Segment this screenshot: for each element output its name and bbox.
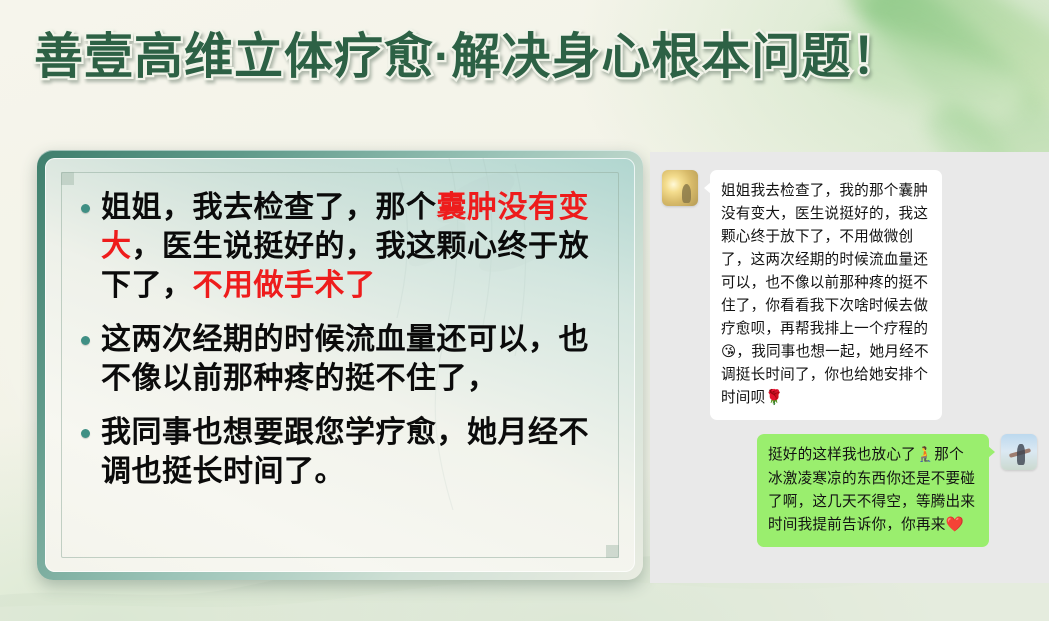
bullet-dot-icon xyxy=(81,204,90,213)
chat-message-outgoing: 挺好的这样我也放心了🧎那个冰激凌寒凉的东西你还是不要碰了啊，这几天不得空，等腾出… xyxy=(650,420,1049,546)
bullet-segment: 姐姐，我去检查了，那个 xyxy=(101,191,437,224)
avatar xyxy=(1001,434,1037,470)
content-card: 姐姐，我去检查了，那个囊肿没有变大，医生说挺好的，我这颗心终于放下了，不用做手术… xyxy=(37,150,643,580)
bullet-text: 我同事也想要跟您学疗愈，她月经不调也挺长时间了。 xyxy=(101,413,613,491)
chat-bubble-outgoing: 挺好的这样我也放心了🧎那个冰激凌寒凉的东西你还是不要碰了啊，这几天不得空，等腾出… xyxy=(757,434,989,546)
avatar xyxy=(662,170,698,206)
chat-screenshot-panel: 姐姐我去检查了，我的那个囊肿没有变大，医生说挺好的，我这颗心终于放下了，不用做微… xyxy=(650,152,1049,583)
bullet-text: 姐姐，我去检查了，那个囊肿没有变大，医生说挺好的，我这颗心终于放下了，不用做手术… xyxy=(101,188,613,305)
bullet-segment: 我同事也想要跟您学疗愈，她月经不调也挺长时间了。 xyxy=(101,416,589,488)
bullet-dot-icon xyxy=(81,429,90,438)
bullet-segment: 这两次经期的时候流血量还可以，也不像以前那种疼的挺不住了， xyxy=(101,323,589,395)
bullet-dot-icon xyxy=(81,336,90,345)
list-item: 姐姐，我去检查了，那个囊肿没有变大，医生说挺好的，我这颗心终于放下了，不用做手术… xyxy=(81,188,613,305)
list-item: 我同事也想要跟您学疗愈，她月经不调也挺长时间了。 xyxy=(81,413,613,491)
page-title: 善壹高维立体疗愈·解决身心根本问题！ xyxy=(34,30,901,85)
content-card-inner: 姐姐，我去检查了，那个囊肿没有变大，医生说挺好的，我这颗心终于放下了，不用做手术… xyxy=(45,158,635,572)
bullet-list: 姐姐，我去检查了，那个囊肿没有变大，医生说挺好的，我这颗心终于放下了，不用做手术… xyxy=(75,180,617,554)
bullet-text: 这两次经期的时候流血量还可以，也不像以前那种疼的挺不住了， xyxy=(101,320,613,398)
list-item: 这两次经期的时候流血量还可以，也不像以前那种疼的挺不住了， xyxy=(81,320,613,398)
chat-bubble-incoming: 姐姐我去检查了，我的那个囊肿没有变大，医生说挺好的，我这颗心终于放下了，不用做微… xyxy=(710,170,942,420)
frame-corner-notch xyxy=(61,172,74,185)
bullet-segment-highlight: 不用做手术了 xyxy=(193,269,376,302)
chat-message-incoming: 姐姐我去检查了，我的那个囊肿没有变大，医生说挺好的，我这颗心终于放下了，不用做微… xyxy=(650,152,1049,420)
